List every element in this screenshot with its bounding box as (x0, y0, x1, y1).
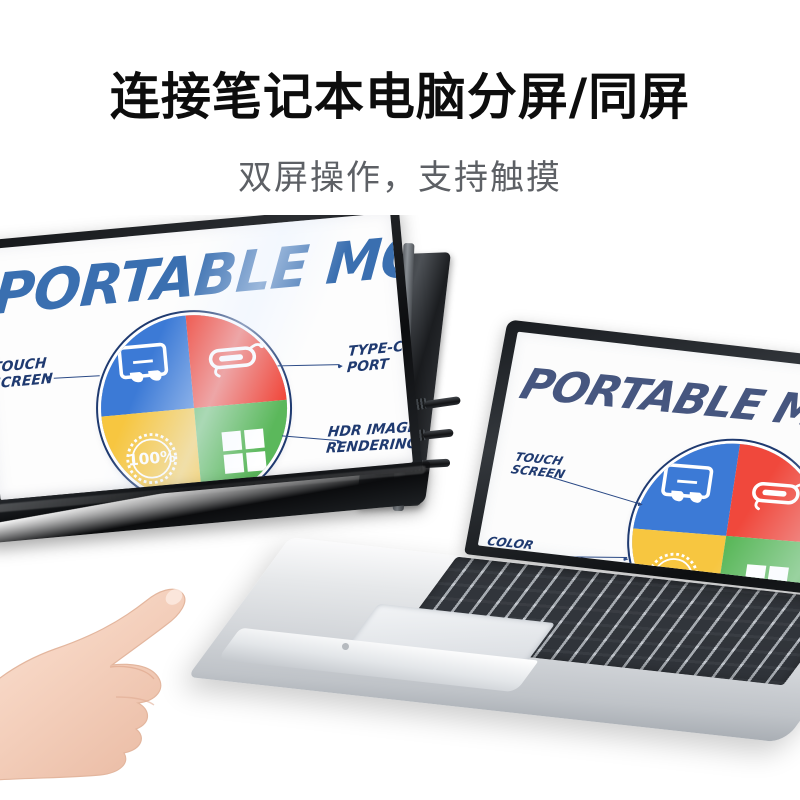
monitor-label-hdr-line2: RENDERING (325, 436, 413, 457)
monitor-leader-typec (278, 364, 340, 367)
headline-block: 连接笔记本电脑分屏/同屏 双屏操作，支持触摸 (0, 0, 800, 230)
headline-subtitle: 双屏操作，支持触摸 (0, 122, 800, 199)
monitor-label-touch-line2: SCREEN (0, 371, 53, 392)
laptop-label-touch-line2: SCREEN (509, 464, 566, 482)
usb-c-cable-icon (739, 456, 800, 532)
monitor-leader-dot-typec (338, 364, 343, 369)
laptop-leader-gamut (524, 556, 627, 558)
headline-title: 连接笔记本电脑分屏/同屏 (0, 0, 800, 122)
laptop-label-gamut-line1: COLOR (485, 535, 538, 553)
laptop-leader-touch (549, 476, 640, 505)
touch-screen-icon (105, 328, 182, 405)
monitor-screen-title: PORTABLE MONITOR (0, 215, 413, 328)
monitor-feature-wheel: 100% (93, 307, 295, 500)
monitor-quadrant-touch-screen[interactable] (93, 316, 194, 417)
portable-monitor-device: PORTABLE MONITOR (0, 215, 492, 571)
monitor-bezel: PORTABLE MONITOR (0, 215, 423, 509)
monitor-label-type-c-port: TYPE-C PORT (346, 340, 403, 377)
monitor-leader-touch (54, 375, 100, 379)
monitor-label-hdr-image-rendering: HDR IMAGE RENDERING (325, 420, 413, 457)
monitor-label-touch-screen: TOUCH SCREEN (0, 356, 54, 393)
laptop-quadrant-touch-screen[interactable] (633, 436, 740, 535)
monitor-screen[interactable]: PORTABLE MONITOR (0, 215, 413, 500)
monitor-infographic: PORTABLE MONITOR (0, 215, 413, 500)
laptop-quadrant-type-c-port[interactable] (726, 444, 800, 543)
usb-c-cable-icon (198, 319, 275, 396)
product-photo-stage: PORTABLE MONITO (0, 215, 800, 800)
monitor-label-typec-line2: PORT (346, 356, 402, 377)
monitor-quadrant-type-c-port[interactable] (186, 307, 287, 408)
touch-screen-icon (646, 448, 727, 524)
laptop-label-touch-screen: TOUCH SCREEN (509, 451, 570, 482)
